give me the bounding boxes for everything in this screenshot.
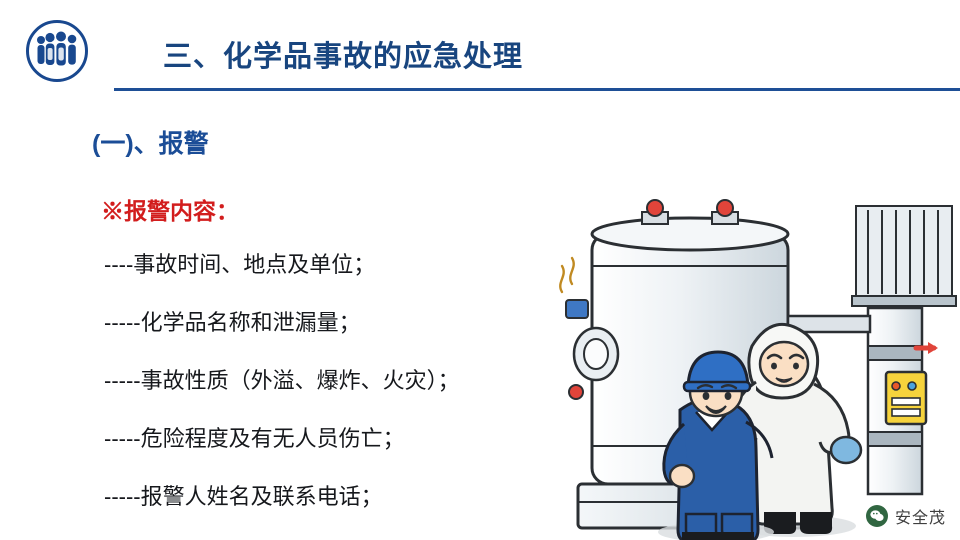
list-item: -----危险程度及有无人员伤亡； [104, 422, 574, 480]
list-item: -----化学品名称和泄漏量； [104, 306, 574, 364]
watermark-label: 安全茂 [895, 504, 946, 528]
watermark: 安全茂 [866, 504, 946, 528]
page-title: 三、化学品事故的应急处理 [163, 33, 523, 75]
slide-canvas: 三、化学品事故的应急处理 (一)、报警 ※报警内容： ----事故时间、地点及单… [0, 0, 960, 540]
list-item: ----事故时间、地点及单位； [104, 248, 574, 306]
section-title: (一)、报警 [92, 124, 209, 160]
slide-header: 三、化学品事故的应急处理 [0, 0, 960, 96]
people-circle-logo [26, 20, 88, 82]
bullet-list: ----事故时间、地点及单位； -----化学品名称和泄漏量； -----事故性… [104, 248, 574, 538]
chemical-accident-illustration [556, 196, 960, 540]
header-divider [114, 88, 960, 91]
wechat-icon [866, 505, 888, 527]
list-item: -----报警人姓名及联系电话； [104, 480, 574, 538]
content-heading: ※报警内容： [101, 192, 239, 226]
list-item: -----事故性质（外溢、爆炸、火灾）； [104, 364, 574, 422]
